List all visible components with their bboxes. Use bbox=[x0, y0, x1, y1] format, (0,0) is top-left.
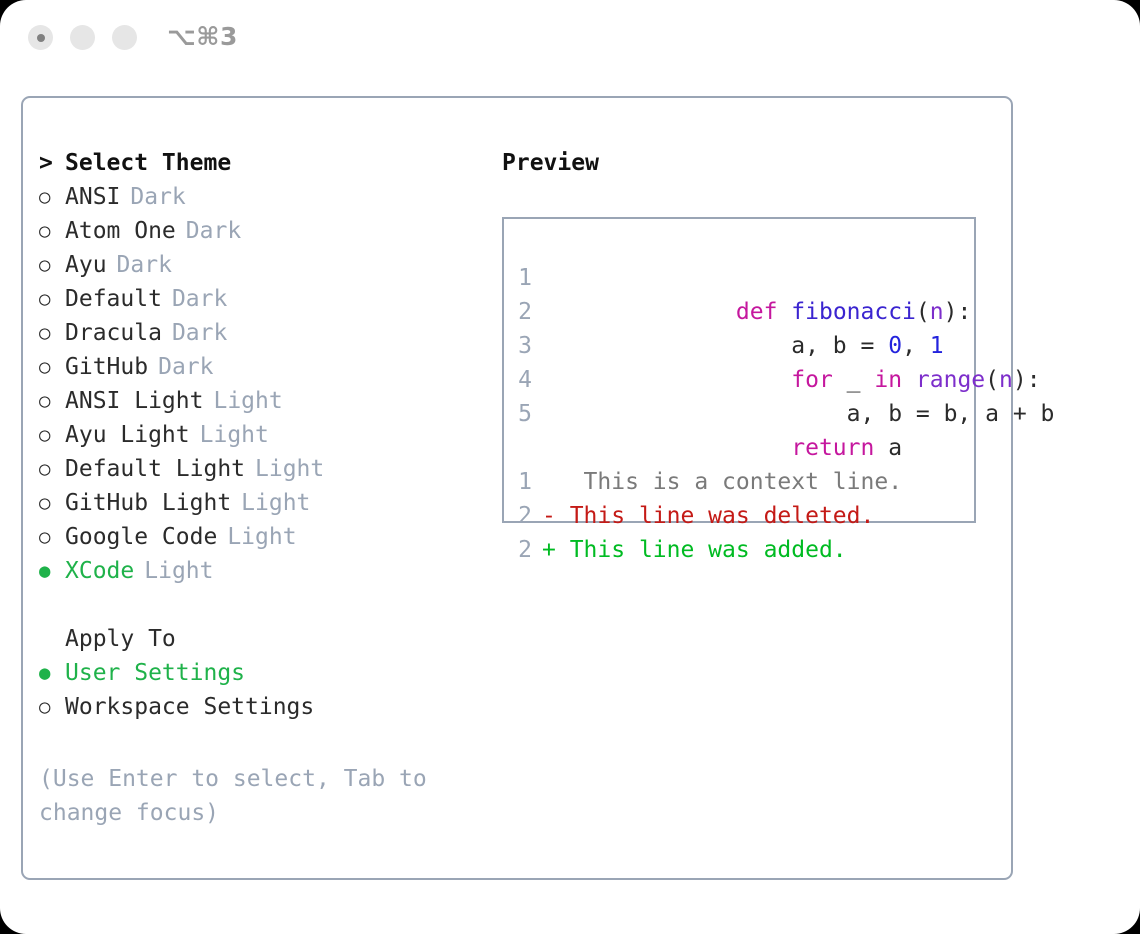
apply-to-user-settings[interactable]: ● User Settings bbox=[39, 656, 499, 690]
apply-to-option-label: Workspace Settings bbox=[65, 690, 314, 724]
theme-option-tag: Light bbox=[241, 486, 310, 520]
theme-option-tag: Dark bbox=[172, 316, 227, 350]
radio-unselected-icon: ○ bbox=[39, 282, 65, 316]
keyboard-hint-line-1: (Use Enter to select, Tab to bbox=[39, 762, 459, 796]
theme-option-tag: Dark bbox=[172, 282, 227, 316]
theme-option-label: Atom One bbox=[65, 214, 176, 248]
theme-option-label: Ayu Light bbox=[65, 418, 190, 452]
radio-unselected-icon: ○ bbox=[39, 520, 65, 554]
radio-unselected-icon: ○ bbox=[39, 486, 65, 520]
diff-marker bbox=[542, 465, 556, 499]
theme-option-ansi-light[interactable]: ○ ANSI Light Light bbox=[39, 384, 499, 418]
apply-to-heading: ○ Apply To bbox=[39, 622, 499, 656]
theme-option-ayu-light[interactable]: ○ Ayu Light Light bbox=[39, 418, 499, 452]
spacer-icon: ○ bbox=[39, 622, 65, 656]
window-maximize-dot[interactable] bbox=[112, 25, 137, 50]
line-number: 1 bbox=[504, 465, 542, 499]
theme-option-label: Google Code bbox=[65, 520, 217, 554]
radio-unselected-icon: ○ bbox=[39, 690, 65, 724]
code-token: ): bbox=[944, 299, 972, 325]
theme-option-tag: Dark bbox=[117, 248, 172, 282]
diff-marker: - bbox=[542, 499, 556, 533]
window-dot-inner bbox=[37, 34, 45, 42]
diff-line-deleted: 2 - This line was deleted. bbox=[504, 499, 974, 533]
section-spacer bbox=[39, 588, 499, 622]
select-theme-heading: > Select Theme bbox=[39, 146, 499, 180]
radio-unselected-icon: ○ bbox=[39, 384, 65, 418]
diff-line-added: 2 + This line was added. bbox=[504, 533, 974, 567]
code-text: a, b = b, a + b bbox=[542, 363, 1054, 397]
line-number: 2 bbox=[504, 295, 542, 329]
keyboard-shortcut-label: ⌥⌘3 bbox=[167, 22, 238, 51]
theme-option-label: Default Light bbox=[65, 452, 245, 486]
radio-unselected-icon: ○ bbox=[39, 316, 65, 350]
radio-unselected-icon: ○ bbox=[39, 418, 65, 452]
theme-option-tag: Light bbox=[213, 384, 282, 418]
select-theme-heading-label: Select Theme bbox=[65, 146, 231, 180]
preview-box: 1 def fibonacci(n): 2 a, b = 0, 1 3 bbox=[502, 217, 976, 523]
theme-option-label: Ayu bbox=[65, 248, 107, 282]
line-number: 5 bbox=[504, 397, 542, 431]
theme-option-label: GitHub bbox=[65, 350, 148, 384]
preview-column: Preview 1 def fibonacci(n): 2 a, b = 0, … bbox=[502, 146, 1002, 523]
code-text: a, b = 0, 1 bbox=[542, 295, 944, 329]
main-panel: > Select Theme ○ ANSI Dark ○ Atom One Da… bbox=[21, 96, 1013, 880]
apply-to-option-label: User Settings bbox=[65, 656, 245, 690]
theme-option-ayu[interactable]: ○ Ayu Dark bbox=[39, 248, 499, 282]
theme-option-atom-one[interactable]: ○ Atom One Dark bbox=[39, 214, 499, 248]
apply-to-heading-label: Apply To bbox=[65, 622, 176, 656]
code-line: 2 a, b = 0, 1 bbox=[504, 295, 974, 329]
diff-line-context: 1 This is a context line. bbox=[504, 465, 974, 499]
theme-option-dracula[interactable]: ○ Dracula Dark bbox=[39, 316, 499, 350]
window-close-dot[interactable] bbox=[28, 25, 53, 50]
theme-option-ansi[interactable]: ○ ANSI Dark bbox=[39, 180, 499, 214]
radio-unselected-icon: ○ bbox=[39, 214, 65, 248]
diff-text: This line was deleted. bbox=[556, 499, 875, 533]
diff-text: This is a context line. bbox=[556, 465, 902, 499]
theme-option-tag: Light bbox=[255, 452, 324, 486]
title-bar: ⌥⌘3 bbox=[0, 0, 1140, 78]
theme-option-tag: Light bbox=[227, 520, 296, 554]
theme-option-tag: Dark bbox=[158, 350, 213, 384]
preview-heading: Preview bbox=[502, 146, 1002, 180]
line-number: 4 bbox=[504, 363, 542, 397]
apply-to-workspace-settings[interactable]: ○ Workspace Settings bbox=[39, 690, 499, 724]
theme-option-default[interactable]: ○ Default Dark bbox=[39, 282, 499, 316]
theme-option-google-code[interactable]: ○ Google Code Light bbox=[39, 520, 499, 554]
theme-option-default-light[interactable]: ○ Default Light Light bbox=[39, 452, 499, 486]
code-text: def fibonacci(n): bbox=[542, 261, 971, 295]
code-text: for _ in range(n): bbox=[542, 329, 1041, 363]
theme-option-label: ANSI Light bbox=[65, 384, 203, 418]
theme-option-label: GitHub Light bbox=[65, 486, 231, 520]
radio-unselected-icon: ○ bbox=[39, 452, 65, 486]
theme-option-tag: Dark bbox=[186, 214, 241, 248]
theme-option-tag: Light bbox=[200, 418, 269, 452]
line-number: 1 bbox=[504, 261, 542, 295]
line-number: 3 bbox=[504, 329, 542, 363]
radio-unselected-icon: ○ bbox=[39, 248, 65, 282]
theme-option-xcode[interactable]: ● XCode Light bbox=[39, 554, 499, 588]
theme-option-label: ANSI bbox=[65, 180, 120, 214]
code-token bbox=[736, 435, 791, 461]
app-window: ⌥⌘3 > Select Theme ○ ANSI Dark ○ Atom On… bbox=[0, 0, 1140, 934]
keyboard-hint: (Use Enter to select, Tab to change focu… bbox=[39, 762, 459, 830]
theme-option-label: XCode bbox=[65, 554, 134, 588]
theme-option-label: Dracula bbox=[65, 316, 162, 350]
diff-text: This line was added. bbox=[556, 533, 847, 567]
window-minimize-dot[interactable] bbox=[70, 25, 95, 50]
window-controls bbox=[28, 25, 137, 50]
theme-option-github-light[interactable]: ○ GitHub Light Light bbox=[39, 486, 499, 520]
radio-unselected-icon: ○ bbox=[39, 180, 65, 214]
keyboard-hint-line-2: change focus) bbox=[39, 796, 459, 830]
theme-selector-column: > Select Theme ○ ANSI Dark ○ Atom One Da… bbox=[39, 146, 499, 724]
code-token: return bbox=[791, 435, 874, 461]
code-line: 4 a, b = b, a + b bbox=[504, 363, 974, 397]
code-token: a bbox=[874, 435, 902, 461]
theme-option-github[interactable]: ○ GitHub Dark bbox=[39, 350, 499, 384]
code-line: 1 def fibonacci(n): bbox=[504, 261, 974, 295]
theme-option-tag: Light bbox=[144, 554, 213, 588]
radio-selected-icon: ● bbox=[39, 554, 65, 588]
code-line: 3 for _ in range(n): bbox=[504, 329, 974, 363]
radio-selected-icon: ● bbox=[39, 656, 65, 690]
theme-option-tag: Dark bbox=[130, 180, 185, 214]
caret-icon: > bbox=[39, 146, 65, 180]
line-number: 2 bbox=[504, 533, 542, 567]
code-text: return a bbox=[542, 397, 902, 431]
diff-marker: + bbox=[542, 533, 556, 567]
theme-option-label: Default bbox=[65, 282, 162, 316]
radio-unselected-icon: ○ bbox=[39, 350, 65, 384]
line-number: 2 bbox=[504, 499, 542, 533]
